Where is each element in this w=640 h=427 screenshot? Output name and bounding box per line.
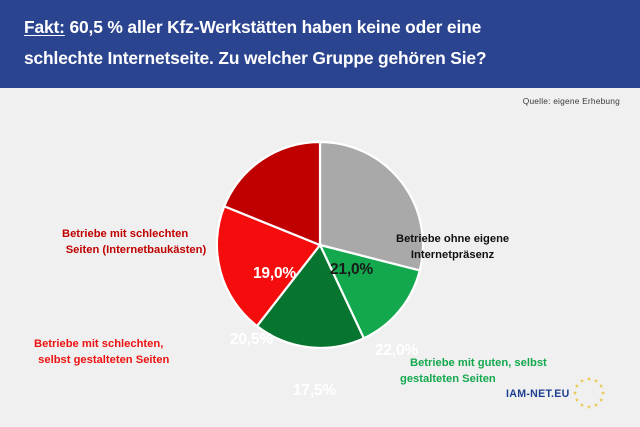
headline-line-1: Fakt: 60,5 % aller Kfz-Werkstätten haben… <box>24 12 618 43</box>
slice-label-line-1: Betriebe mit schlechten, <box>34 337 169 353</box>
slice-label-line-2: Internetpräsenz <box>396 248 509 264</box>
slice-label-betriebe-mit-schlechten-seiten-internetbaukaesten: Betriebe mit schlechten Seiten (Internet… <box>62 227 206 258</box>
slice-value-gray: 21,0% <box>330 261 373 279</box>
eu-stars-icon <box>568 376 610 410</box>
header-banner: Fakt: 60,5 % aller Kfz-Werkstätten haben… <box>0 0 640 88</box>
slice-label-line-2: selbst gestalteten Seiten <box>34 353 169 369</box>
slice-value-red: 20,5% <box>230 331 273 349</box>
slice-label-betriebe-mit-schlechten-selbst-gestalteten-seiten: Betriebe mit schlechten, selbst gestalte… <box>34 337 169 368</box>
slice-value-dark-green: 17,5% <box>293 382 336 400</box>
slice-label-line-1: Betriebe ohne eigene <box>396 232 509 248</box>
pie-chart-svg <box>215 140 425 350</box>
infographic-page: Fakt: 60,5 % aller Kfz-Werkstätten haben… <box>0 0 640 427</box>
headline-fakt-keyword: Fakt: <box>24 17 65 37</box>
slice-value-dark-red: 19,0% <box>253 265 296 283</box>
headline-line-1-rest: 60,5 % aller Kfz-Werkstätten haben keine… <box>65 17 481 37</box>
slice-label-line-1: Betriebe mit schlechten <box>62 227 206 243</box>
headline-line-2: schlechte Internetseite. Zu welcher Grup… <box>24 43 618 74</box>
brand-logo-text: IAM-NET.EU <box>506 388 570 400</box>
slice-label-line-1: Betriebe mit guten, selbst <box>400 356 547 372</box>
slice-label-betriebe-ohne-eigene-internetpraesenz: Betriebe ohne eigene Internetpräsenz <box>396 232 509 263</box>
brand-logo[interactable]: IAM-NET.EU <box>506 376 610 410</box>
slice-label-line-2: Seiten (Internetbaukästen) <box>62 243 206 259</box>
